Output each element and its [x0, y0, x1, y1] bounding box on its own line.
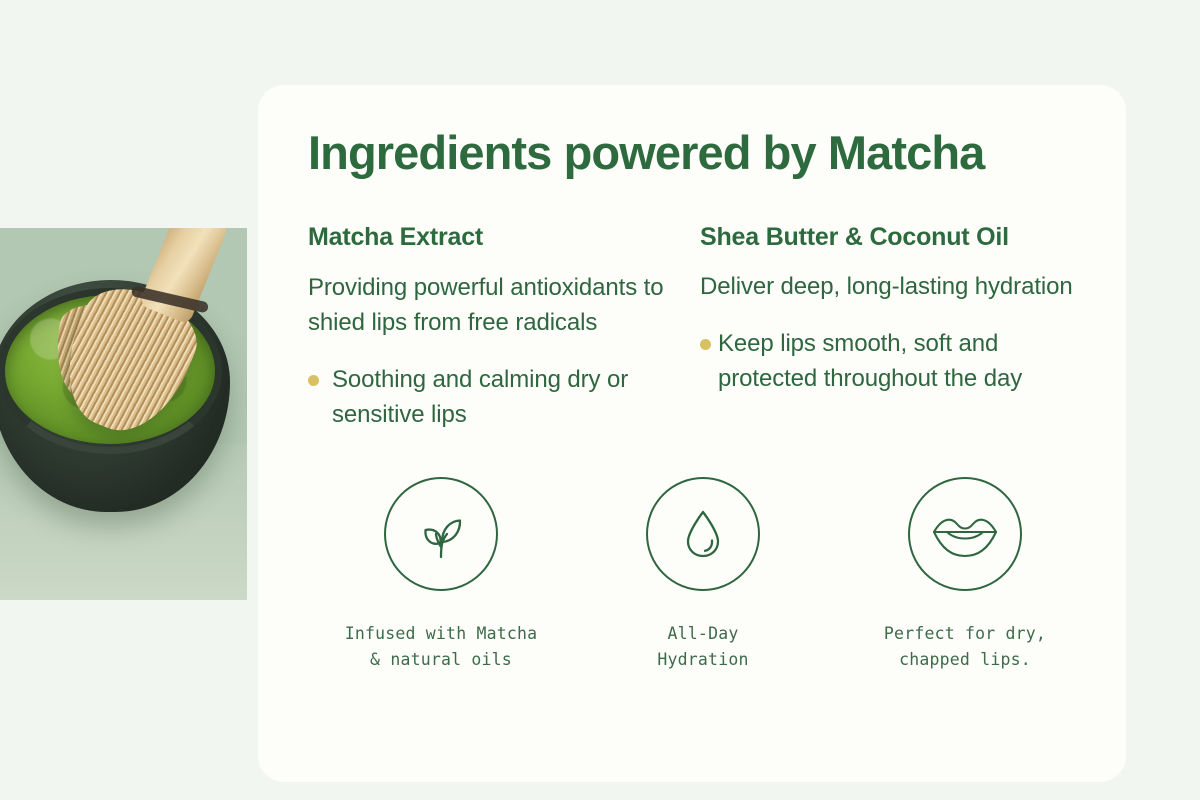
ingredient-description-shea-coconut: Deliver deep, long-lasting hydration — [700, 269, 1090, 304]
ingredient-column-shea-coconut: Shea Butter & Coconut Oil Deliver deep, … — [700, 221, 1090, 432]
ingredient-bullet-shea-coconut: Keep lips smooth, soft and protected thr… — [700, 326, 1090, 396]
matcha-product-photo — [0, 228, 247, 600]
ingredient-columns: Matcha Extract Providing powerful antiox… — [308, 221, 1098, 432]
ingredient-bullet-matcha-extract: Soothing and calming dry or sensitive li… — [308, 362, 682, 432]
feature-all-day-hydration: All-Day Hydration — [572, 477, 834, 673]
ingredient-title-matcha-extract: Matcha Extract — [308, 221, 682, 254]
ingredient-column-matcha-extract: Matcha Extract Providing powerful antiox… — [308, 221, 698, 432]
feature-circle — [384, 477, 498, 591]
feature-perfect-for-dry-chapped-lips: Perfect for dry, chapped lips. — [834, 477, 1096, 673]
feature-circle — [646, 477, 760, 591]
bullet-text-shea-coconut: Keep lips smooth, soft and protected thr… — [718, 326, 1090, 396]
feature-row: Infused with Matcha & natural oils All-D… — [308, 477, 1098, 673]
ingredient-title-shea-coconut: Shea Butter & Coconut Oil — [700, 221, 1090, 254]
feature-caption-infused-with-matcha: Infused with Matcha & natural oils — [345, 621, 538, 673]
whisk-handle — [139, 228, 234, 325]
bullet-text-matcha-extract: Soothing and calming dry or sensitive li… — [332, 362, 682, 432]
water-droplet-icon — [671, 502, 735, 566]
bullet-dot-icon — [308, 375, 319, 386]
leaf-sprout-icon — [409, 502, 473, 566]
photo-scene — [0, 228, 247, 600]
ingredient-description-matcha-extract: Providing powerful antioxidants to shied… — [308, 270, 682, 340]
feature-circle — [908, 477, 1022, 591]
ingredients-card: Ingredients powered by Matcha Matcha Ext… — [258, 85, 1126, 782]
bullet-dot-icon — [700, 339, 711, 350]
card-content: Ingredients powered by Matcha Matcha Ext… — [258, 85, 1126, 673]
feature-infused-with-matcha: Infused with Matcha & natural oils — [310, 477, 572, 673]
feature-caption-perfect-for-dry-chapped-lips: Perfect for dry, chapped lips. — [884, 621, 1046, 673]
lips-icon — [929, 506, 1001, 562]
page-title: Ingredients powered by Matcha — [308, 128, 1098, 178]
feature-caption-all-day-hydration: All-Day Hydration — [657, 621, 748, 673]
